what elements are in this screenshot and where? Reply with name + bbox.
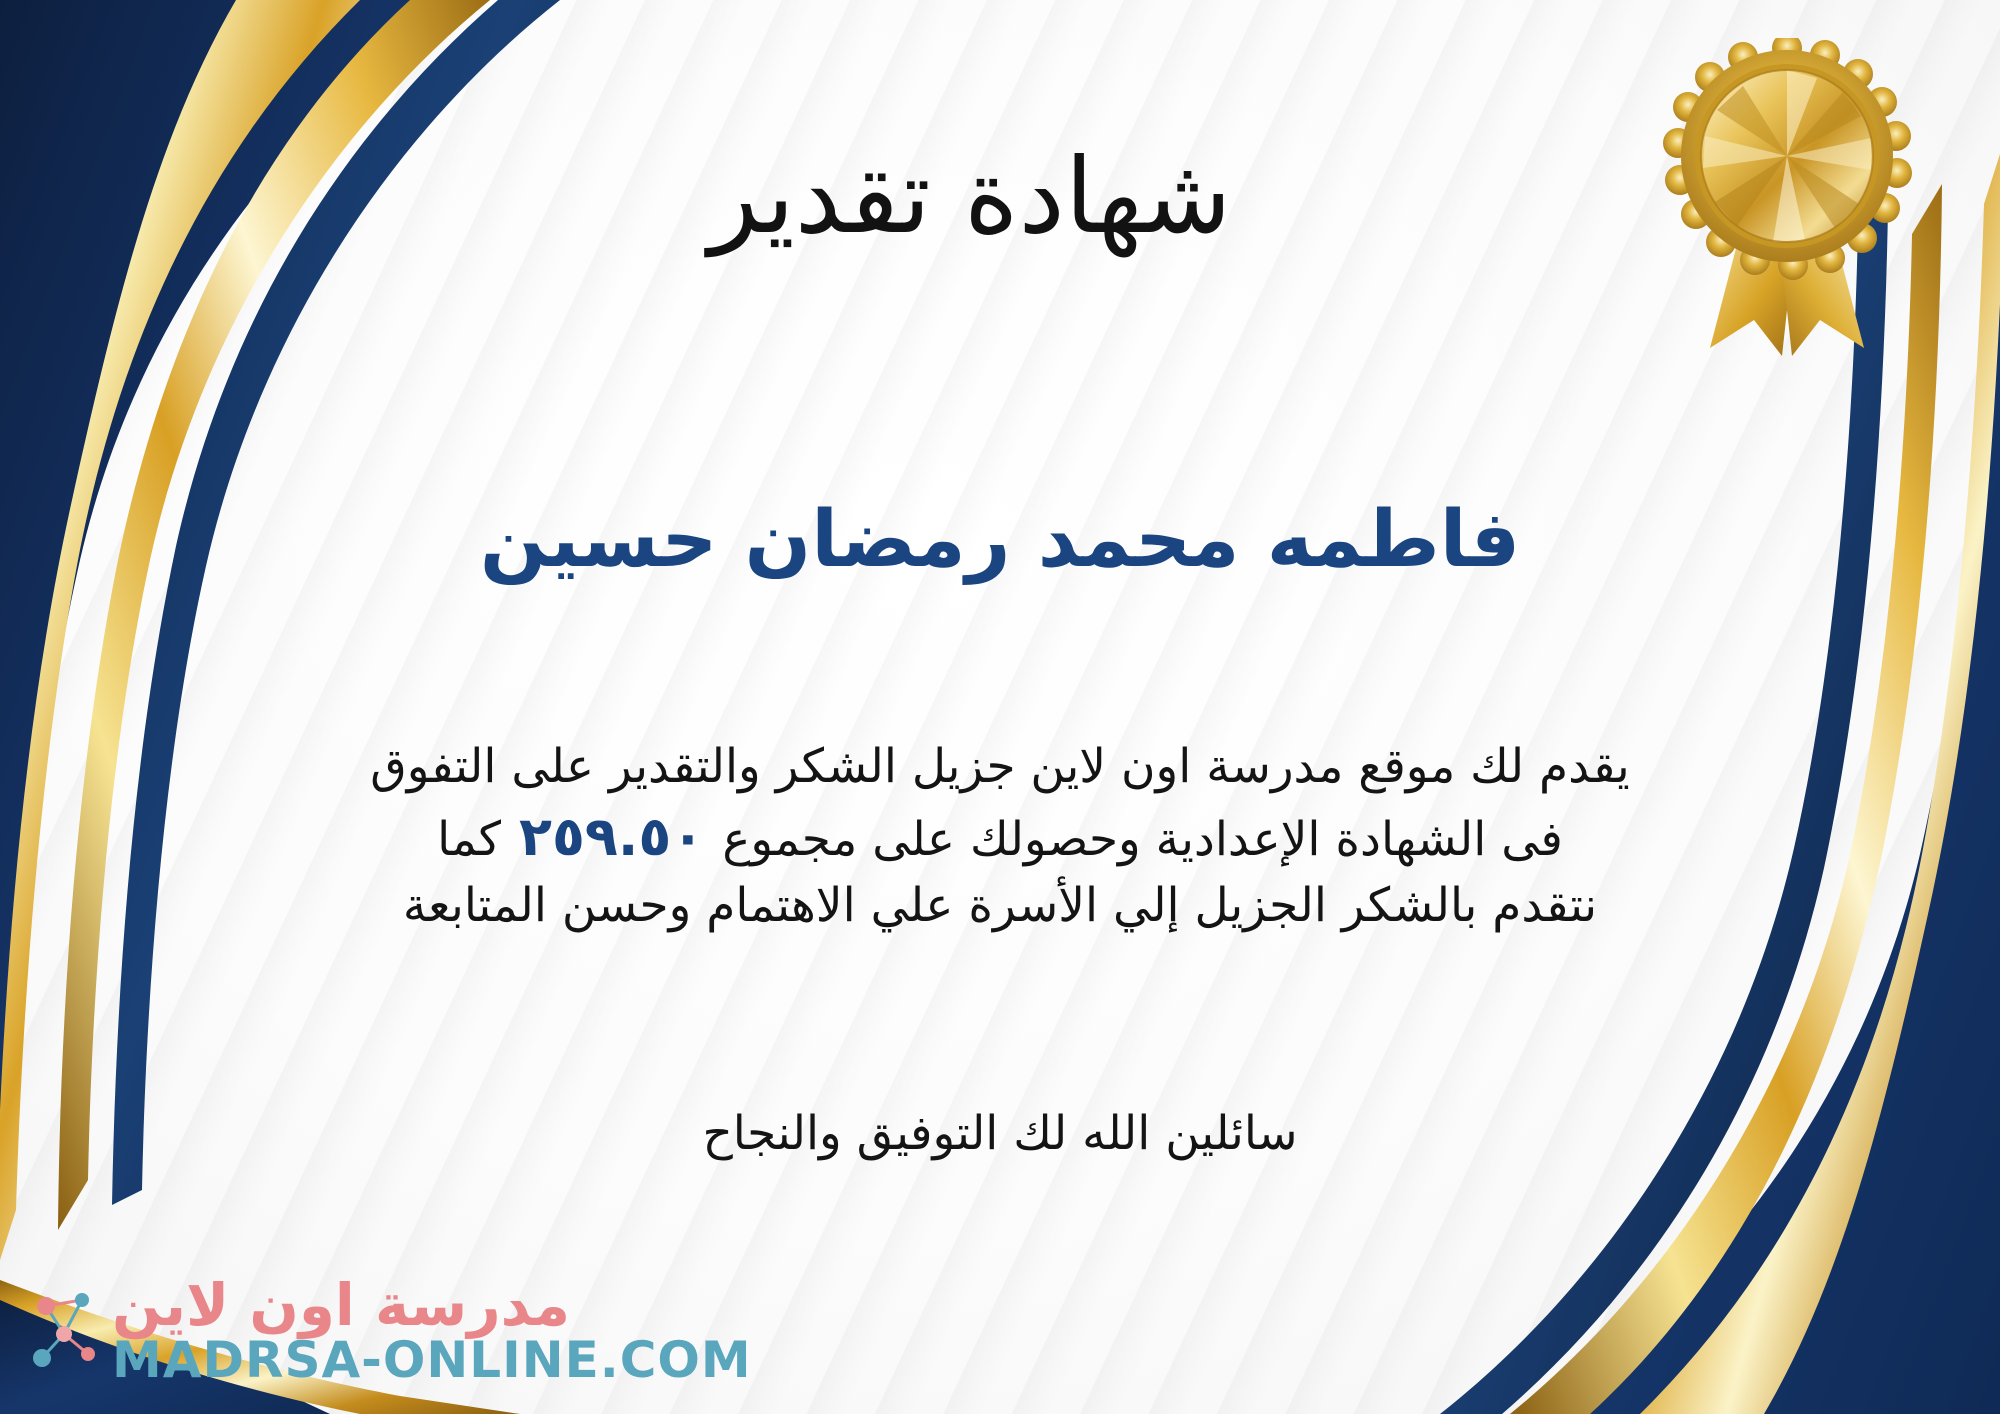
brand-logo[interactable]: مدرسة اون لاين MADRSA-ONLINE.COM <box>24 1276 752 1387</box>
recipient-name: فاطمه محمد رمضان حسين <box>0 498 2000 584</box>
certificate-content: شهادة تقدير فاطمه محمد رمضان حسين يقدم ل… <box>0 0 2000 1414</box>
body-line-3: نتقدم بالشكر الجزيل إلي الأسرة علي الاهت… <box>60 874 1940 939</box>
total-score-value: ٢٥٩.٥٠ <box>501 805 722 868</box>
brand-website-url: MADRSA-ONLINE.COM <box>112 1334 752 1387</box>
brand-arabic-name: مدرسة اون لاين <box>112 1276 570 1334</box>
body-line-2-suffix: كما <box>437 812 501 867</box>
certificate-canvas: شهادة تقدير فاطمه محمد رمضان حسين يقدم ل… <box>0 0 2000 1414</box>
body-line-1: يقدم لك موقع مدرسة اون لاين جزيل الشكر و… <box>60 735 1940 800</box>
brand-text-block: مدرسة اون لاين MADRSA-ONLINE.COM <box>112 1276 752 1387</box>
closing-wish-text: سائلين الله لك التوفيق والنجاح <box>0 1106 2000 1161</box>
certificate-title: شهادة تقدير <box>0 142 2000 251</box>
certificate-body: يقدم لك موقع مدرسة اون لاين جزيل الشكر و… <box>60 735 1940 939</box>
body-line-2-prefix: فى الشهادة الإعدادية وحصولك على مجموع <box>722 812 1563 867</box>
network-nodes-icon <box>24 1288 102 1374</box>
body-line-2: فى الشهادة الإعدادية وحصولك على مجموع٢٥٩… <box>60 800 1940 875</box>
